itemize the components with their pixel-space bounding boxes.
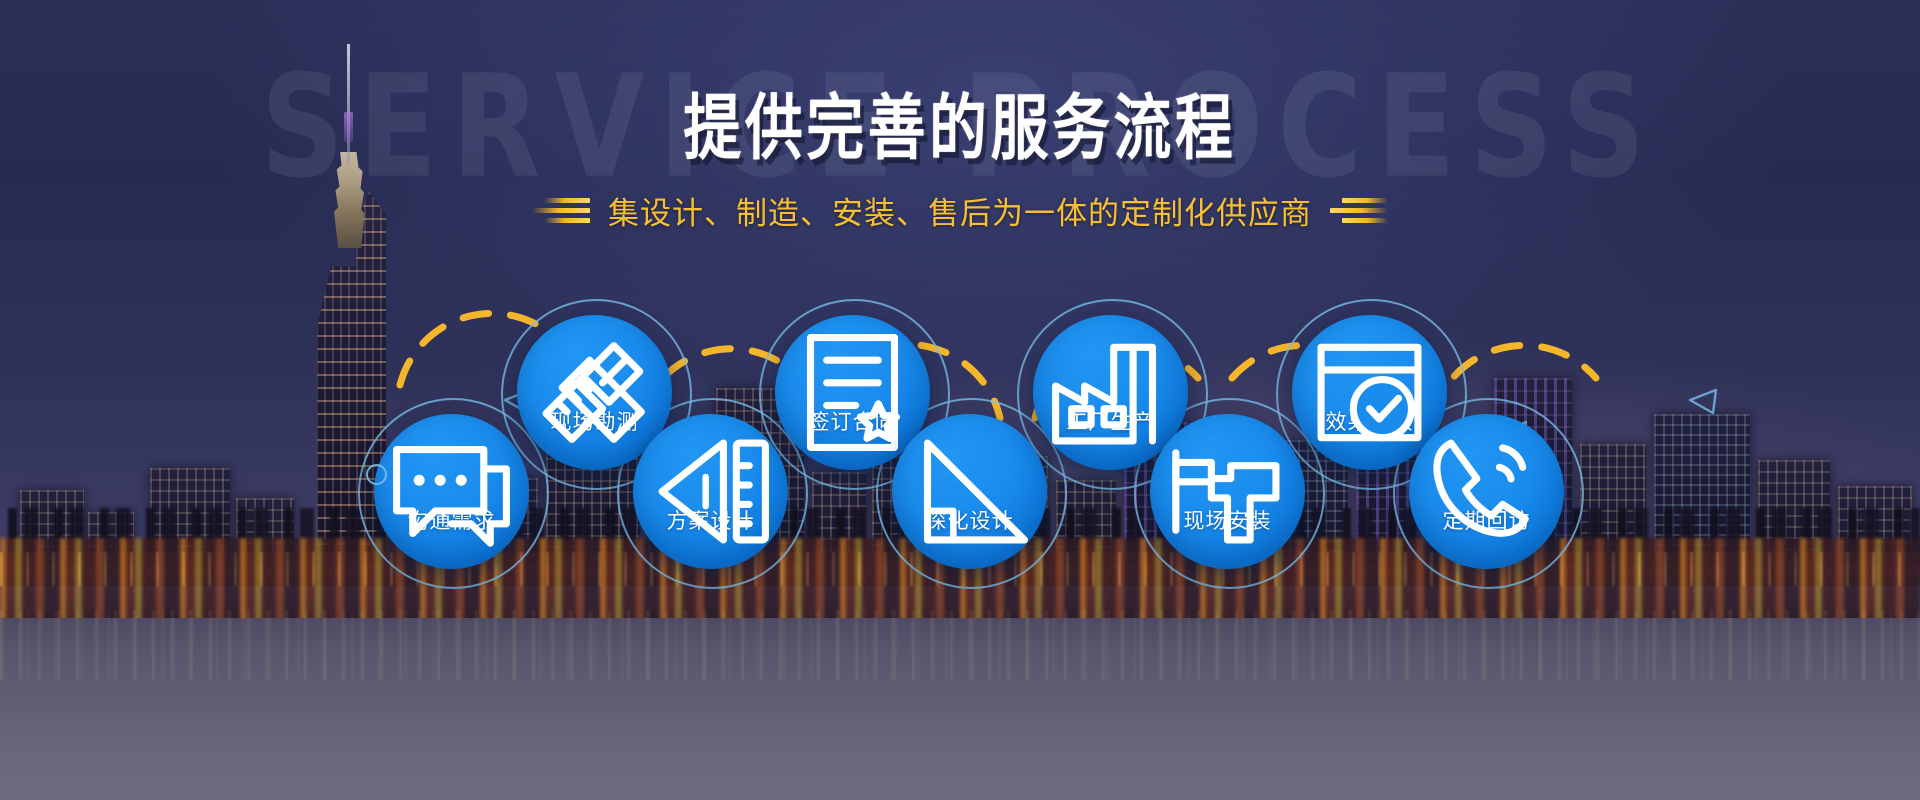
process-step-3[interactable]: 方案设计 [633, 414, 788, 569]
factory-icon [1088, 350, 1134, 396]
subtitle-ornament-left [532, 198, 590, 223]
flow-start-marker [366, 464, 387, 485]
water-reflection [0, 610, 1920, 680]
chat-bubble-icon [429, 449, 475, 495]
process-step-1[interactable]: 沟通需求 [374, 414, 529, 569]
process-flow: 沟通需求 现场勘测 [0, 300, 1920, 620]
dash-arc-6 [1432, 345, 1596, 418]
page-subtitle: 集设计、制造、安装、售后为一体的定制化供应商 [608, 188, 1312, 233]
ruler-pencil-icon [572, 350, 618, 396]
window-check-icon [1347, 350, 1393, 396]
service-process-banner: SERVICE PROCESS 提供完善的服务流程 集设计、制造、安装、售后为一… [0, 0, 1920, 800]
subtitle-ornament-right [1330, 198, 1388, 223]
set-square-icon [947, 449, 993, 495]
arrow-head-7 [1690, 390, 1716, 413]
page-title: 提供完善的服务流程 [38, 90, 1881, 168]
contract-seal-icon [830, 350, 876, 396]
subtitle-row: 集设计、制造、安装、售后为一体的定制化供应商 [0, 188, 1920, 233]
power-drill-icon [1205, 449, 1251, 495]
ruler-arrow-icon [688, 449, 734, 495]
process-step-7[interactable]: 现场安装 [1150, 414, 1305, 569]
phone-call-icon [1464, 449, 1510, 495]
process-step-5[interactable]: 深化设计 [892, 414, 1047, 569]
process-step-9[interactable]: 定期回访 [1409, 414, 1564, 569]
